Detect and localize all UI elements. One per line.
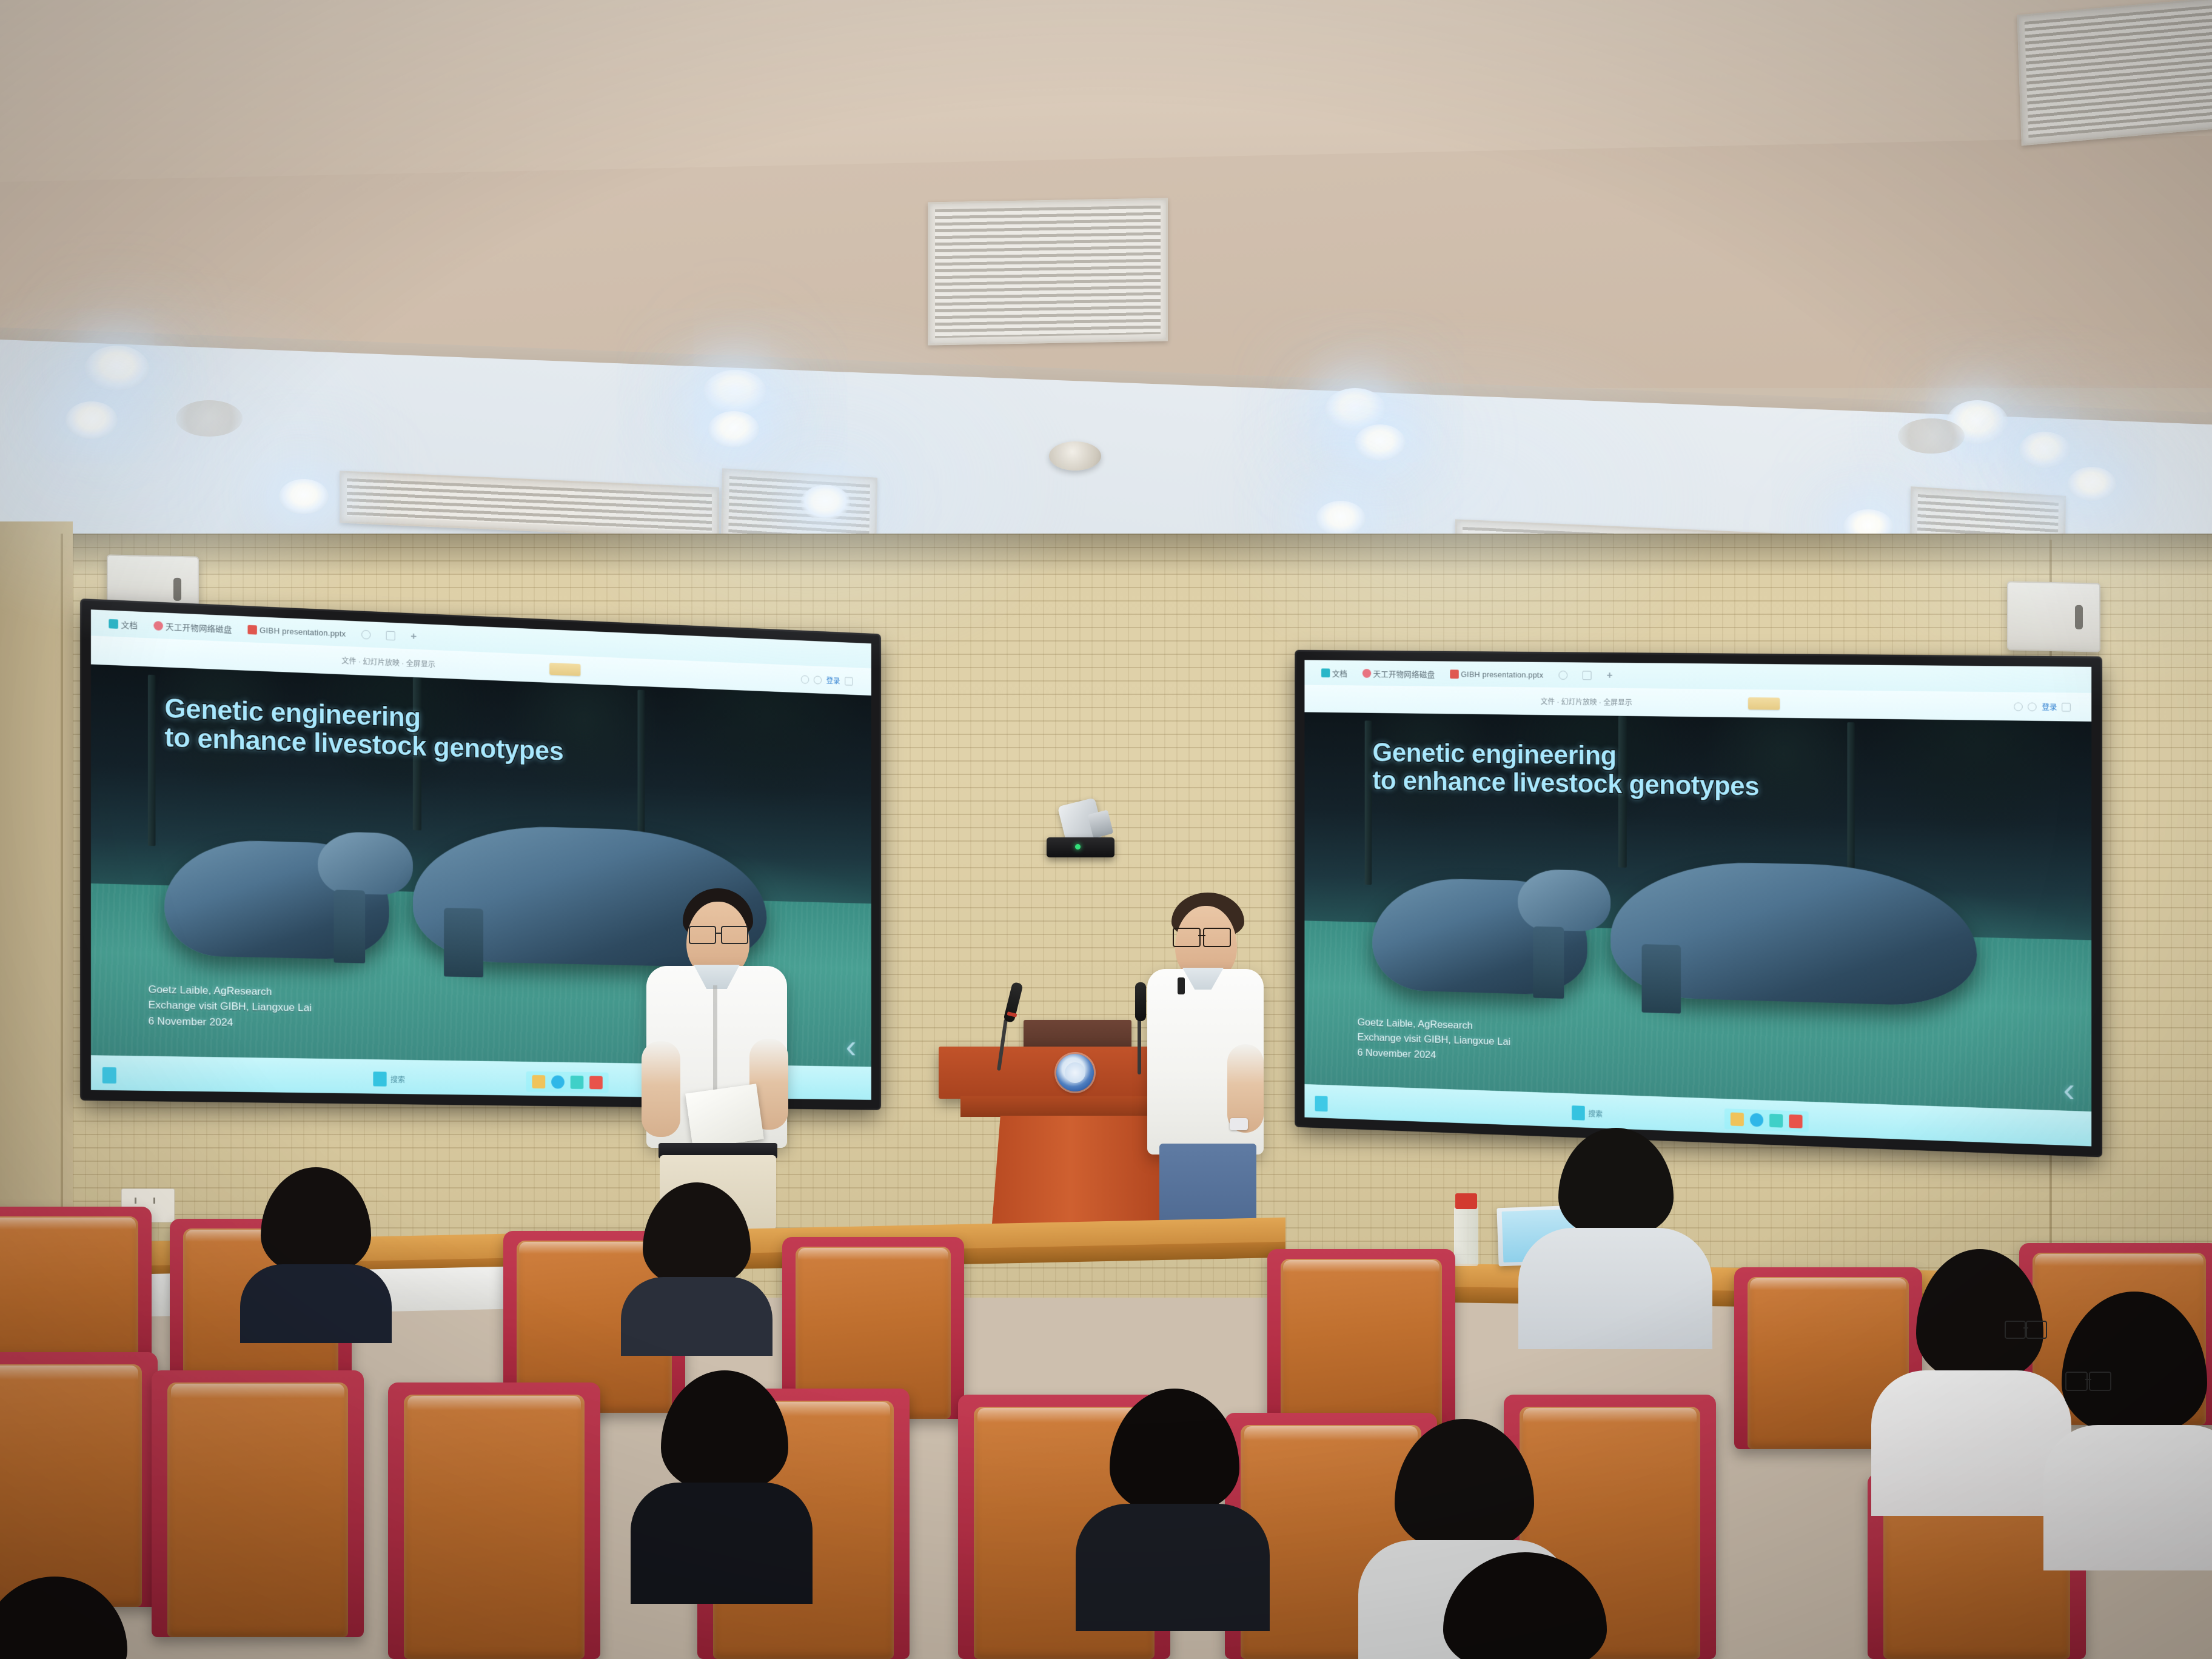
slide-title: Genetic engineering to enhance livestock…: [1372, 739, 2017, 805]
shoulders: [1518, 1228, 1712, 1349]
video-icon[interactable]: [589, 1076, 603, 1089]
stone-sculpture-leg: [444, 908, 484, 977]
audience-member: [261, 1167, 371, 1295]
ceiling-downlight: [800, 485, 850, 520]
glasses-icon: [689, 926, 748, 942]
slides-icon: [1450, 669, 1459, 679]
wall-panel-seam: [61, 534, 63, 1298]
hvac-vent: [928, 198, 1168, 346]
browser-icon[interactable]: [1750, 1113, 1763, 1127]
presenter-notes: [685, 1084, 764, 1149]
close-icon[interactable]: [1583, 671, 1592, 680]
menu-icon[interactable]: [845, 677, 853, 685]
presenter-left: [631, 888, 800, 1228]
shoulders: [2043, 1425, 2212, 1570]
shoulders: [1076, 1504, 1270, 1631]
sign-in-label[interactable]: 登录: [2042, 702, 2057, 712]
close-icon[interactable]: [386, 631, 395, 640]
seat[interactable]: [1267, 1249, 1455, 1431]
wristwatch: [1230, 1118, 1248, 1130]
menu-icon[interactable]: [2062, 703, 2071, 711]
search-icon: [1572, 1105, 1585, 1121]
wall-speaker-right: [2007, 581, 2100, 652]
presenter-laptop[interactable]: [1024, 1020, 1131, 1049]
ceiling-blemish: [176, 400, 243, 437]
new-tab-button[interactable]: +: [1607, 669, 1613, 682]
audience-member: [1110, 1389, 1239, 1558]
play-slideshow-button[interactable]: [1748, 697, 1780, 710]
tree-trunk: [1365, 720, 1372, 885]
wall-top-shadow: [0, 534, 2212, 576]
doc-icon: [109, 618, 119, 628]
slides-icon: [247, 625, 256, 634]
slide-credits: Goetz Laible, AgResearch Exchange visit …: [1357, 1014, 1510, 1065]
sync-icon[interactable]: [2028, 702, 2037, 711]
institution-emblem: [1056, 1054, 1094, 1091]
shoulders: [631, 1483, 813, 1604]
notes-icon[interactable]: [532, 1075, 546, 1088]
ceiling-downlight: [1355, 424, 1406, 461]
browser-tab-active[interactable]: GIBH presentation.pptx: [247, 625, 346, 638]
stone-sculpture-leg: [333, 890, 365, 964]
browser-tab-label: 天工开物网络磁盘: [166, 620, 232, 634]
arm-left: [642, 1041, 680, 1137]
smoke-detector-icon: [1049, 441, 1101, 471]
tree-trunk: [148, 674, 155, 846]
audience-member: [1443, 1552, 1607, 1659]
glasses-icon: [2065, 1372, 2111, 1389]
search-icon: [374, 1071, 387, 1086]
audience-member: [643, 1182, 751, 1310]
bottle-cap: [1455, 1193, 1477, 1209]
video-icon[interactable]: [1789, 1114, 1802, 1128]
stone-sculpture-leg: [1533, 926, 1564, 999]
start-icon[interactable]: [1315, 1096, 1328, 1111]
ceiling-downlight: [2019, 432, 2070, 468]
browser-tab[interactable]: 天工开物网络磁盘: [1362, 668, 1435, 680]
stone-sculpture-head: [1518, 869, 1610, 931]
right-projection-screen[interactable]: 文档 天工开物网络磁盘 GIBH presentation.pptx + 文件 …: [1296, 652, 2100, 1156]
mail-icon[interactable]: [1769, 1113, 1783, 1127]
doc-icon: [1321, 668, 1330, 677]
microphone-head: [1003, 982, 1023, 1023]
browser-tab-label: GIBH presentation.pptx: [260, 625, 346, 638]
extensions-icon[interactable]: [2014, 702, 2023, 711]
shoulders: [240, 1264, 392, 1343]
microphone-left: [994, 982, 1031, 1067]
slide-prev-chevron[interactable]: ‹: [2063, 1072, 2075, 1107]
glasses-icon: [1173, 928, 1231, 945]
hvac-vent: [2017, 0, 2212, 146]
ceiling-downlight: [708, 411, 759, 447]
audience-member: [1916, 1249, 2043, 1419]
notes-icon[interactable]: [1730, 1112, 1743, 1126]
sync-icon[interactable]: [814, 675, 822, 684]
seat[interactable]: [388, 1382, 600, 1659]
stone-sculpture-head: [318, 831, 413, 896]
stone-sculpture-leg: [1641, 944, 1681, 1014]
sign-in-label[interactable]: 登录: [826, 675, 840, 686]
new-tab-button[interactable]: +: [411, 630, 417, 643]
cloud-icon: [153, 621, 163, 631]
browser-tab-active[interactable]: GIBH presentation.pptx: [1450, 669, 1543, 679]
ceiling-downlight: [279, 479, 329, 514]
cloud-icon: [1362, 669, 1370, 678]
browser-tab-label: 天工开物网络磁盘: [1373, 668, 1435, 680]
audience-member: [2062, 1292, 2207, 1486]
taskbar-tray[interactable]: [1724, 1108, 1808, 1132]
ceiling-downlight: [1316, 501, 1366, 536]
wall-camera: [1047, 802, 1114, 857]
presenter-right: [1138, 893, 1277, 1238]
browser-tab[interactable]: 天工开物网络磁盘: [153, 620, 232, 635]
lecture-hall-scene: 文档 天工开物网络磁盘 GIBH presentation.pptx + 文件 …: [0, 0, 2212, 1659]
address-text: 文件 · 幻灯片放映 · 全屏显示: [341, 655, 435, 669]
lapel-mic: [1178, 977, 1185, 994]
mail-icon[interactable]: [571, 1075, 584, 1088]
taskbar-search[interactable]: 搜索: [374, 1071, 405, 1087]
bookmark-icon[interactable]: [361, 629, 370, 639]
slide-credits: Goetz Laible, AgResearch Exchange visit …: [148, 981, 312, 1031]
browser-tab-label: 文档: [1332, 667, 1347, 679]
address-text: 文件 · 幻灯片放映 · 全屏显示: [1541, 696, 1632, 708]
glasses-icon: [2005, 1321, 2047, 1336]
browser-tab-label: 文档: [121, 618, 138, 631]
ceiling-blemish: [1898, 418, 1965, 454]
ceiling-downlight: [703, 370, 766, 414]
audience-member: [1558, 1128, 1674, 1279]
shoulders: [621, 1277, 773, 1356]
audience-member: [661, 1370, 788, 1528]
ceiling-downlight: [65, 401, 118, 439]
shoulders: [1871, 1370, 2071, 1516]
browser-tab[interactable]: 文档: [109, 617, 138, 630]
ceiling-downlight: [85, 346, 149, 390]
bookmark-icon[interactable]: [1558, 671, 1567, 680]
browser-tab[interactable]: 文档: [1321, 667, 1347, 679]
search-placeholder: 搜索: [390, 1074, 405, 1084]
camera-bracket: [1047, 837, 1114, 857]
play-slideshow-button[interactable]: [549, 663, 580, 676]
water-bottle[interactable]: [1454, 1207, 1478, 1266]
start-icon[interactable]: [102, 1067, 116, 1084]
search-placeholder: 搜索: [1588, 1108, 1603, 1119]
browser-icon[interactable]: [551, 1075, 565, 1088]
slide-prev-chevron[interactable]: ‹: [846, 1030, 857, 1063]
seat[interactable]: [0, 1352, 158, 1607]
audience-member: [0, 1577, 127, 1659]
ceiling-downlight: [2068, 467, 2116, 501]
taskbar-search[interactable]: 搜索: [1572, 1105, 1603, 1121]
slide-canvas: Genetic engineering to enhance livestock…: [1304, 712, 2091, 1111]
browser-tab-label: GIBH presentation.pptx: [1461, 669, 1543, 679]
seat[interactable]: [152, 1370, 364, 1637]
taskbar-tray[interactable]: [526, 1071, 609, 1093]
extensions-icon[interactable]: [801, 675, 809, 683]
